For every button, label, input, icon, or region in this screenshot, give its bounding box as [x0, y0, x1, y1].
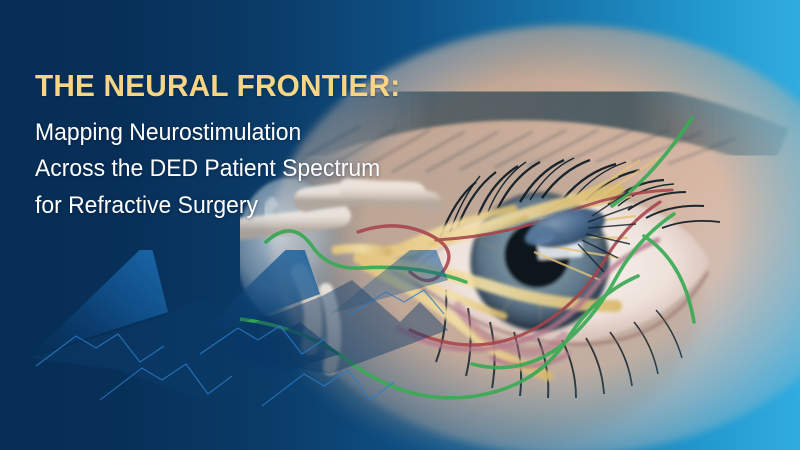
- subtitle-line-3: for Refractive Surgery: [35, 188, 446, 224]
- headline-block: THE NEURAL FRONTIER: Mapping Neurostimul…: [35, 70, 465, 224]
- page-title: THE NEURAL FRONTIER:: [35, 70, 448, 101]
- subtitle-line-2: Across the DED Patient Spectrum: [35, 151, 446, 187]
- page-subtitle: Mapping Neurostimulation Across the DED …: [35, 115, 446, 224]
- subtitle-line-1: Mapping Neurostimulation: [35, 115, 446, 151]
- banner-hero: THE NEURAL FRONTIER: Mapping Neurostimul…: [0, 0, 800, 450]
- zigzag-decoration: [0, 250, 460, 450]
